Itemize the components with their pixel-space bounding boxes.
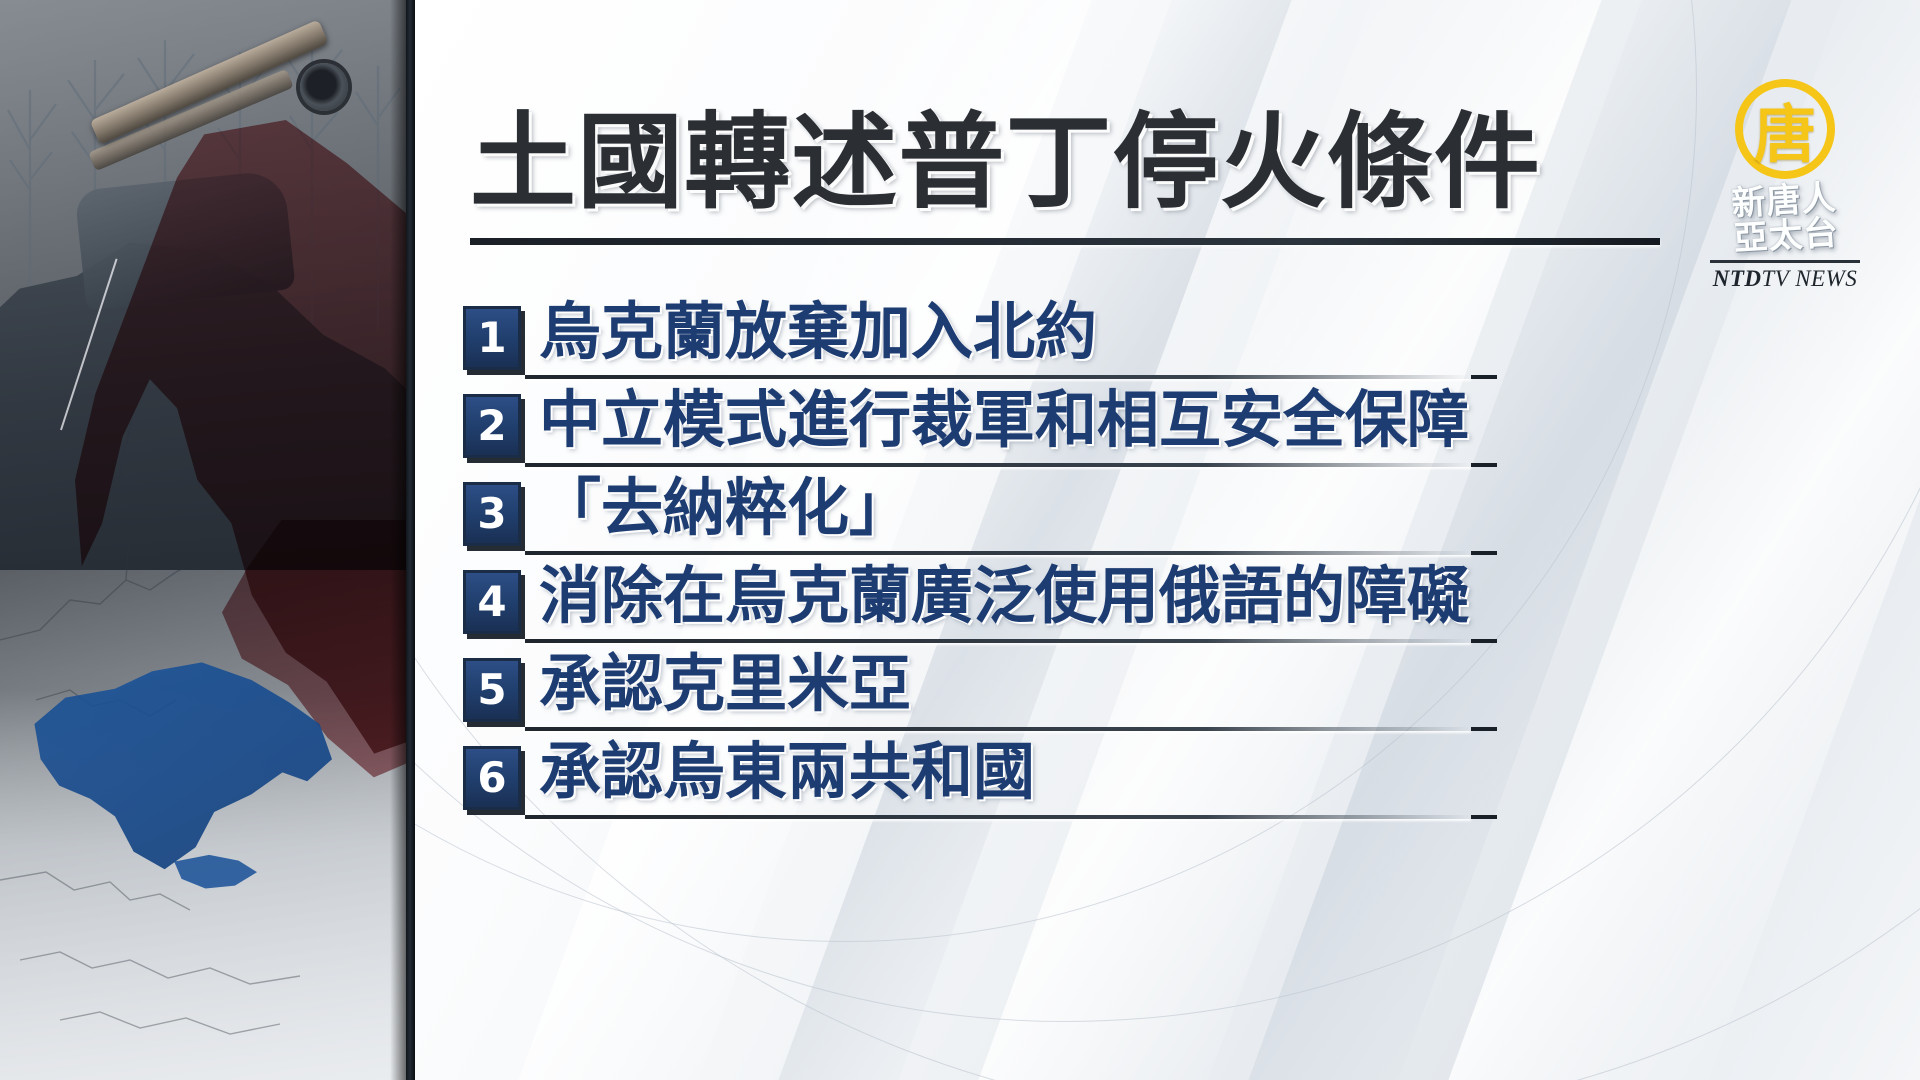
panel-divider — [406, 0, 415, 1080]
logo-chinese-name: 新唐人 亞太台 — [1694, 179, 1876, 259]
headline-block: 土國轉述普丁停火條件 — [470, 110, 1610, 214]
list-item-underline-cap — [1471, 375, 1497, 379]
list-item: 4 消除在烏克蘭廣泛使用俄語的障礙 — [463, 564, 1623, 652]
list-item-underline-cap — [1471, 551, 1497, 555]
page-title: 土國轉述普丁停火條件 — [470, 110, 1633, 214]
list-item: 2 中立模式進行裁軍和相互安全保障 — [463, 388, 1623, 476]
list-item-number: 3 — [463, 482, 521, 546]
list-item-number: 6 — [463, 746, 521, 810]
list-item: 6 承認烏東兩共和國 — [463, 740, 1623, 828]
left-image-panel — [0, 0, 406, 1080]
list-item-label: 承認烏東兩共和國 — [539, 738, 1035, 806]
list-item-underline — [525, 815, 1471, 819]
list-item-underline — [525, 463, 1471, 467]
list-item-underline-cap — [1471, 463, 1497, 467]
list-item-label: 消除在烏克蘭廣泛使用俄語的障礙 — [539, 562, 1469, 630]
list-item-number: 5 — [463, 658, 521, 722]
list-item-underline — [525, 375, 1471, 379]
logo-wordmark-rest: TV NEWS — [1762, 266, 1858, 291]
list-item-label: 中立模式進行裁軍和相互安全保障 — [539, 386, 1469, 454]
logo-ring: 唐 — [1732, 76, 1838, 182]
conditions-list: 1 烏克蘭放棄加入北約 2 中立模式進行裁軍和相互安全保障 3 「去納粹化」 4… — [463, 300, 1623, 828]
list-item-underline — [525, 727, 1471, 731]
logo-wordmark-ntd: NTD — [1713, 266, 1762, 291]
list-item-label: 烏克蘭放棄加入北約 — [539, 298, 1097, 366]
list-item-number: 1 — [463, 306, 521, 370]
list-item-number: 4 — [463, 570, 521, 634]
headline-underline — [470, 238, 1660, 245]
panel-edge-shadow — [390, 0, 406, 1080]
list-item: 5 承認克里米亞 — [463, 652, 1623, 740]
list-item-underline-cap — [1471, 639, 1497, 643]
list-item-label: 承認克里米亞 — [539, 650, 911, 718]
list-item-underline-cap — [1471, 727, 1497, 731]
list-item-number: 2 — [463, 394, 521, 458]
list-item: 1 烏克蘭放棄加入北約 — [463, 300, 1623, 388]
list-item-underline — [525, 639, 1471, 643]
list-item-underline — [525, 551, 1471, 555]
channel-logo: 唐 新唐人 亞太台 NTDTV NEWS — [1696, 76, 1874, 292]
logo-wordmark: NTDTV NEWS — [1696, 266, 1874, 292]
broadcast-graphic: 土國轉述普丁停火條件 唐 新唐人 亞太台 NTDTV NEWS 1 烏克蘭放棄加… — [0, 0, 1920, 1080]
logo-divider-bar — [1710, 260, 1860, 263]
list-item-underline-cap — [1471, 815, 1497, 819]
logo-tang-character: 唐 — [1732, 76, 1838, 182]
content-panel: 土國轉述普丁停火條件 唐 新唐人 亞太台 NTDTV NEWS 1 烏克蘭放棄加… — [415, 0, 1920, 1080]
list-item: 3 「去納粹化」 — [463, 476, 1623, 564]
list-item-label: 「去納粹化」 — [539, 474, 911, 542]
logo-name-line2: 亞太台 — [1696, 214, 1876, 259]
